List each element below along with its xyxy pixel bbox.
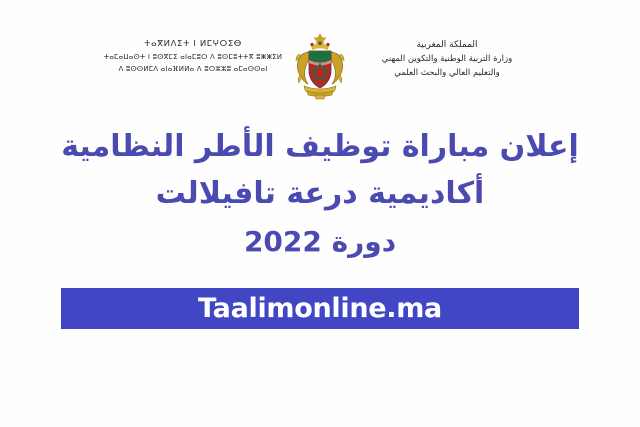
official-letterhead: ⵜⴰⴳⵍⴷⵉⵜ ⵏ ⵍⵎⵖⵔⵉⴱ ⵜⴰⵎⴰⵡⴰⵙⵜ ⵏ ⵓⵙⴳⵎⵉ ⴰⵏⴰⵎⵓⵔ… xyxy=(0,26,640,118)
amazigh-line-3: ⴷ ⵓⵙⵙⵍⵎⴷ ⴰⵏⴰⴼⵍⵍⴰ ⴷ ⵓⵔⵣⵣⵓ ⴰⵎⴰⵙⵙⴰⵏ xyxy=(98,63,288,75)
brand-banner-wrapper: Taalimonline.ma xyxy=(0,288,640,329)
brand-banner-label: Taalimonline.ma xyxy=(198,293,442,324)
amazigh-text: ⵜⴰⴳⵍⴷⵉⵜ ⵏ ⵍⵎⵖⵔⵉⴱ ⵜⴰⵎⴰⵡⴰⵙⵜ ⵏ ⵓⵙⴳⵎⵉ ⴰⵏⴰⵎⵓⵔ… xyxy=(98,38,288,75)
title-line-2: أكاديمية درعة تافيلالت xyxy=(156,170,485,218)
announcement-title-block: إعلان مباراة توظيف الأطر النظامية أكاديم… xyxy=(0,124,640,266)
amazigh-line-1: ⵜⴰⴳⵍⴷⵉⵜ ⵏ ⵍⵎⵖⵔⵉⴱ xyxy=(98,38,288,51)
arabic-line-1: المملكة المغربية xyxy=(352,38,542,52)
amazigh-line-2: ⵜⴰⵎⴰⵡⴰⵙⵜ ⵏ ⵓⵙⴳⵎⵉ ⴰⵏⴰⵎⵓⵔ ⴷ ⵓⵙⵎⵓⵜⵜⴳ ⵓⵥⵥⵉⵍ xyxy=(98,51,288,63)
document-page: ⵜⴰⴳⵍⴷⵉⵜ ⵏ ⵍⵎⵖⵔⵉⴱ ⵜⴰⵎⴰⵡⴰⵙⵜ ⵏ ⵓⵙⴳⵎⵉ ⴰⵏⴰⵎⵓⵔ… xyxy=(0,0,640,427)
title-line-3: دورة 2022 xyxy=(244,218,396,266)
title-line-1: إعلان مباراة توظيف الأطر النظامية xyxy=(61,124,579,170)
brand-banner: Taalimonline.ma xyxy=(61,288,579,329)
coat-of-arms-icon xyxy=(288,26,352,102)
arabic-line-3: والتعليم العالي والبحث العلمي xyxy=(352,66,542,80)
letterhead-arabic-block: المملكة المغربية وزارة التربية الوطنية و… xyxy=(352,26,542,80)
arabic-line-2: وزارة التربية الوطنية والتكوين المهني xyxy=(352,52,542,66)
letterhead-amazigh-block: ⵜⴰⴳⵍⴷⵉⵜ ⵏ ⵍⵎⵖⵔⵉⴱ ⵜⴰⵎⴰⵡⴰⵙⵜ ⵏ ⵓⵙⴳⵎⵉ ⴰⵏⴰⵎⵓⵔ… xyxy=(98,26,288,75)
arabic-ministry-text: المملكة المغربية وزارة التربية الوطنية و… xyxy=(352,38,542,80)
